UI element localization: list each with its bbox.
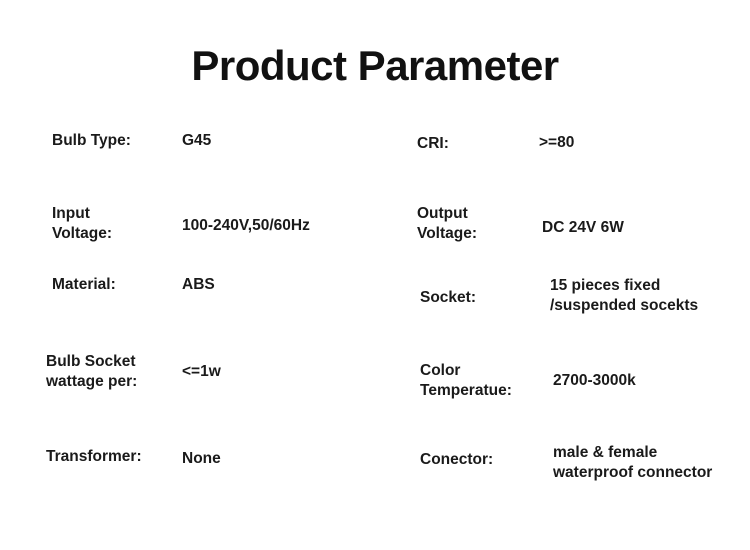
spec-value-conector: male & female waterproof connector [553,443,712,483]
spec-value-material: ABS [182,275,215,295]
product-parameter-page: Product Parameter Bulb Type: G45 CRI: >=… [0,0,750,550]
spec-value-transformer: None [182,449,221,469]
spec-value-bulb-type: G45 [182,131,211,151]
spec-label-cri: CRI: [417,134,449,154]
spec-label-conector: Conector: [420,450,493,470]
spec-value-bulb-socket-wattage: <=1w [182,362,221,382]
spec-value-cri: >=80 [539,133,574,153]
spec-label-color-temperature: Color Temperatue: [420,361,512,401]
spec-label-bulb-socket-wattage: Bulb Socket wattage per: [46,352,137,392]
spec-value-output-voltage: DC 24V 6W [542,218,624,238]
spec-label-material: Material: [52,275,116,295]
spec-label-bulb-type: Bulb Type: [52,131,131,151]
spec-label-input-voltage: Input Voltage: [52,204,112,244]
spec-label-output-voltage: Output Voltage: [417,204,477,244]
spec-value-input-voltage: 100-240V,50/60Hz [182,216,310,236]
spec-label-transformer: Transformer: [46,447,142,467]
spec-label-socket: Socket: [420,288,476,308]
page-title: Product Parameter [0,42,750,90]
spec-value-socket: 15 pieces fixed /suspended socekts [550,276,698,316]
spec-value-color-temperature: 2700-3000k [553,371,636,391]
